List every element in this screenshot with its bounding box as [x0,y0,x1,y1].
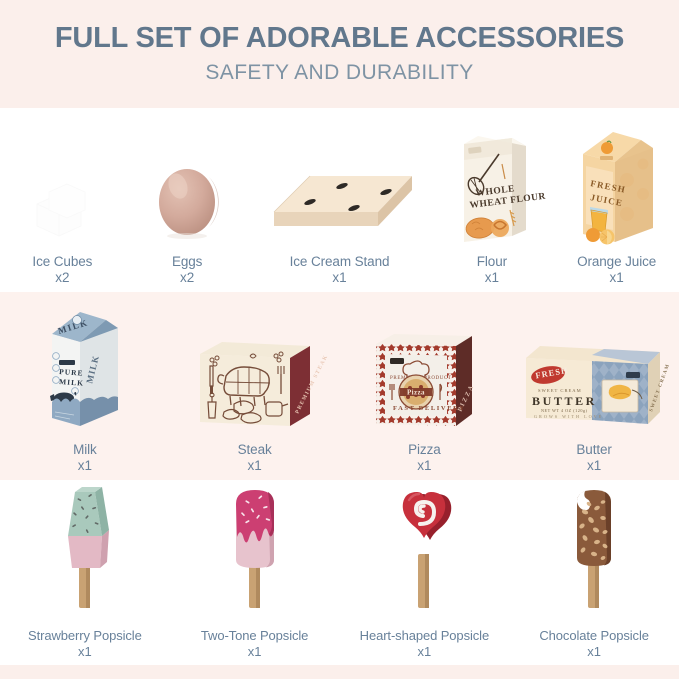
product-cell-two-tone-popsicle: Two-Tone Popsicle x1 [170,480,340,665]
product-cell-milk: MILK PURE MILK [0,292,170,480]
product-name: Ice Cream Stand [290,254,390,270]
page-title: FULL SET OF ADORABLE ACCESSORIES [45,23,634,55]
product-qty: x1 [73,458,97,474]
product-cell-orange-juice: FRESH JUICE [554,108,679,292]
milk-carton-icon: MILK PURE MILK [0,292,170,442]
ice-cubes-icon [0,108,125,254]
caption-two-tone-popsicle: Two-Tone Popsicle x1 [201,628,308,665]
product-qty: x1 [539,644,649,659]
caption-ice-cream-stand: Ice Cream Stand x1 [290,254,390,292]
product-qty: x1 [238,458,272,474]
product-row-1: Ice Cubes x2 [0,108,679,292]
flour-box-icon: WHOLE WHEAT FLOUR [430,108,555,254]
product-cell-chocolate-popsicle: Chocolate Popsicle x1 [509,480,679,665]
product-cell-pizza: PIZZA PREMIUM PRODUCT [340,292,510,480]
product-qty: x1 [360,644,489,659]
product-name: Heart-shaped Popsicle [360,628,489,643]
product-cell-steak: PREMIUM STEAK [170,292,340,480]
product-name: Chocolate Popsicle [539,628,649,643]
product-name: Strawberry Popsicle [28,628,142,643]
product-name: Steak [238,442,272,458]
orange-juice-carton-icon: FRESH JUICE [554,108,679,254]
popsicle-heart-icon [340,474,510,628]
product-qty: x2 [172,270,202,286]
product-name: Butter [576,442,611,458]
product-qty: x1 [477,270,507,286]
caption-orange-juice: Orange Juice x1 [577,254,656,292]
popsicle-two-tone-icon [170,474,340,628]
caption-strawberry-popsicle: Strawberry Popsicle x1 [28,628,142,665]
ice-cream-stand-icon [250,108,430,254]
svg-text:BUTTER: BUTTER [532,394,597,408]
header: FULL SET OF ADORABLE ACCESSORIES SAFETY … [0,0,679,108]
pizza-box-icon: PIZZA PREMIUM PRODUCT [340,292,510,442]
product-row-3: Strawberry Popsicle x1 [0,480,679,665]
caption-eggs: Eggs x2 [172,254,202,292]
product-qty: x1 [577,270,656,286]
page-subtitle: SAFETY AND DURABILITY [205,61,473,85]
product-cell-ice-cubes: Ice Cubes x2 [0,108,125,292]
product-name: Pizza [408,442,441,458]
svg-text:FAST DELIVERY: FAST DELIVERY [393,405,466,412]
product-qty: x1 [201,644,308,659]
caption-heart-popsicle: Heart-shaped Popsicle x1 [360,628,489,665]
svg-text:PURE: PURE [59,367,84,378]
product-qty: x1 [408,458,441,474]
popsicle-strawberry-icon [0,474,170,628]
product-name: Orange Juice [577,254,656,270]
product-qty: x1 [290,270,390,286]
butter-box-icon: SWEET CREAM FRESH SWEET CREAM BUTTER NET… [509,292,679,442]
product-cell-ice-cream-stand: Ice Cream Stand x1 [250,108,430,292]
product-name: Flour [477,254,507,270]
product-cell-flour: WHOLE WHEAT FLOUR Flour [430,108,555,292]
product-accessories-infographic: FULL SET OF ADORABLE ACCESSORIES SAFETY … [0,0,679,679]
product-cell-heart-popsicle: Heart-shaped Popsicle x1 [340,480,510,665]
caption-flour: Flour x1 [477,254,507,292]
product-name: Milk [73,442,97,458]
svg-text:MILK: MILK [59,377,84,388]
svg-text:Pizza: Pizza [407,389,425,397]
caption-chocolate-popsicle: Chocolate Popsicle x1 [539,628,649,665]
popsicle-chocolate-icon [509,474,679,628]
product-name: Two-Tone Popsicle [201,628,308,643]
product-name: Ice Cubes [32,254,92,270]
product-row-2: MILK PURE MILK [0,292,679,480]
svg-text:SWEET CREAM: SWEET CREAM [538,388,582,393]
product-cell-strawberry-popsicle: Strawberry Popsicle x1 [0,480,170,665]
product-cell-butter: SWEET CREAM FRESH SWEET CREAM BUTTER NET… [509,292,679,480]
product-name: Eggs [172,254,202,270]
steak-box-icon: PREMIUM STEAK [170,292,340,442]
product-cell-eggs: Eggs x2 [125,108,250,292]
product-qty: x2 [32,270,92,286]
bottom-background-band [0,665,679,679]
svg-text:GROWS WITH LOVE: GROWS WITH LOVE [534,414,603,419]
caption-ice-cubes: Ice Cubes x2 [32,254,92,292]
svg-text:NET WT 4 OZ (120g): NET WT 4 OZ (120g) [541,408,588,413]
product-qty: x1 [28,644,142,659]
egg-icon [125,108,250,254]
product-qty: x1 [576,458,611,474]
